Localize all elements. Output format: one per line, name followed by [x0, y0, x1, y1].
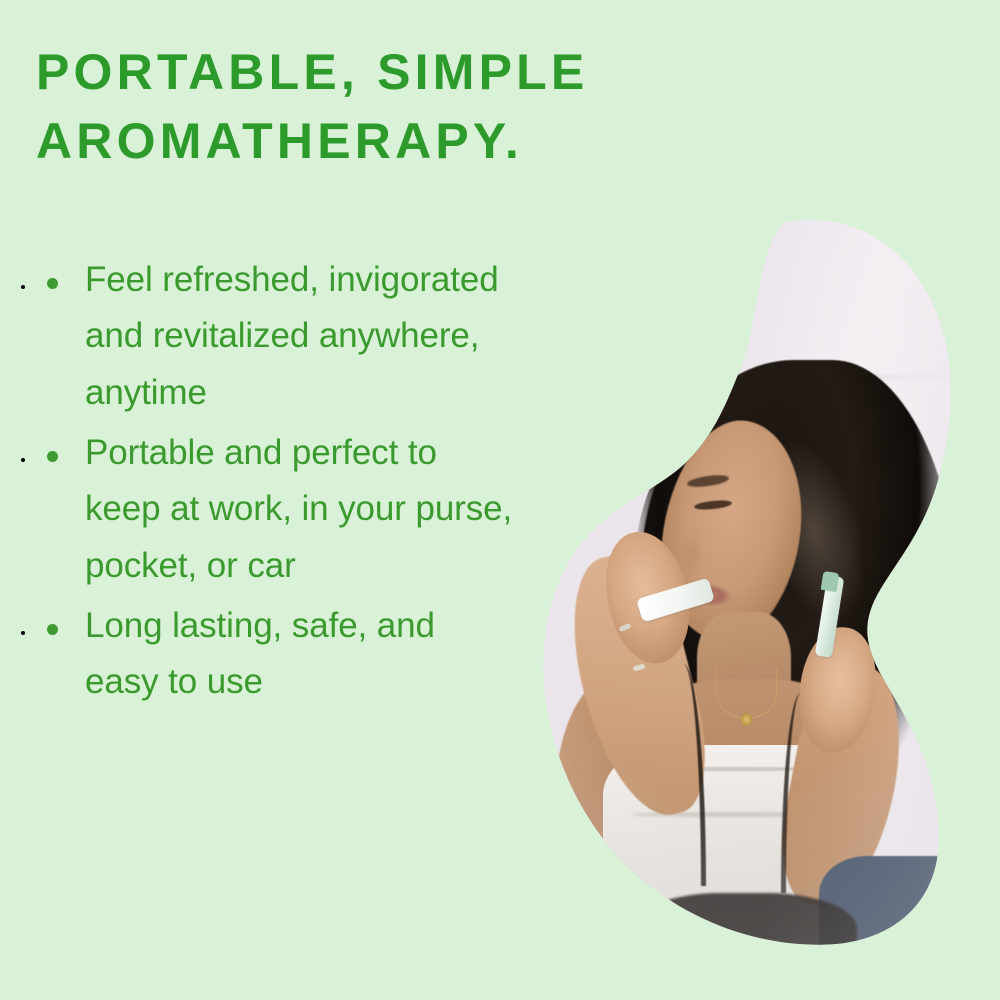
product-lifestyle-photo	[490, 205, 960, 945]
lap-shadow	[631, 893, 857, 945]
bullet-dot-icon	[47, 624, 58, 635]
bullet-dot-icon	[47, 451, 58, 462]
list-item-label: Long lasting, safe, and easy to use	[85, 606, 435, 701]
list-item-label: Feel refreshed, invigorated and revitali…	[85, 260, 499, 412]
necklace-pendant	[741, 713, 752, 726]
photo-content	[490, 205, 960, 945]
list-item: Long lasting, safe, and easy to use	[36, 598, 516, 711]
inhaler-cap	[821, 571, 840, 592]
benefits-list: Feel refreshed, invigorated and revitali…	[36, 252, 516, 715]
blob-mask	[490, 205, 960, 945]
nose	[680, 531, 704, 575]
list-item-label: Portable and perfect to keep at work, in…	[85, 433, 512, 585]
necklace-chain	[716, 668, 777, 720]
list-item: Feel refreshed, invigorated and revitali…	[36, 252, 516, 421]
list-item: Portable and perfect to keep at work, in…	[36, 425, 516, 594]
promo-graphic: Portable, Simple Aromatherapy. Feel refr…	[0, 0, 1000, 1000]
page-title: Portable, Simple Aromatherapy.	[36, 38, 736, 176]
bullet-dot-icon	[47, 278, 58, 289]
